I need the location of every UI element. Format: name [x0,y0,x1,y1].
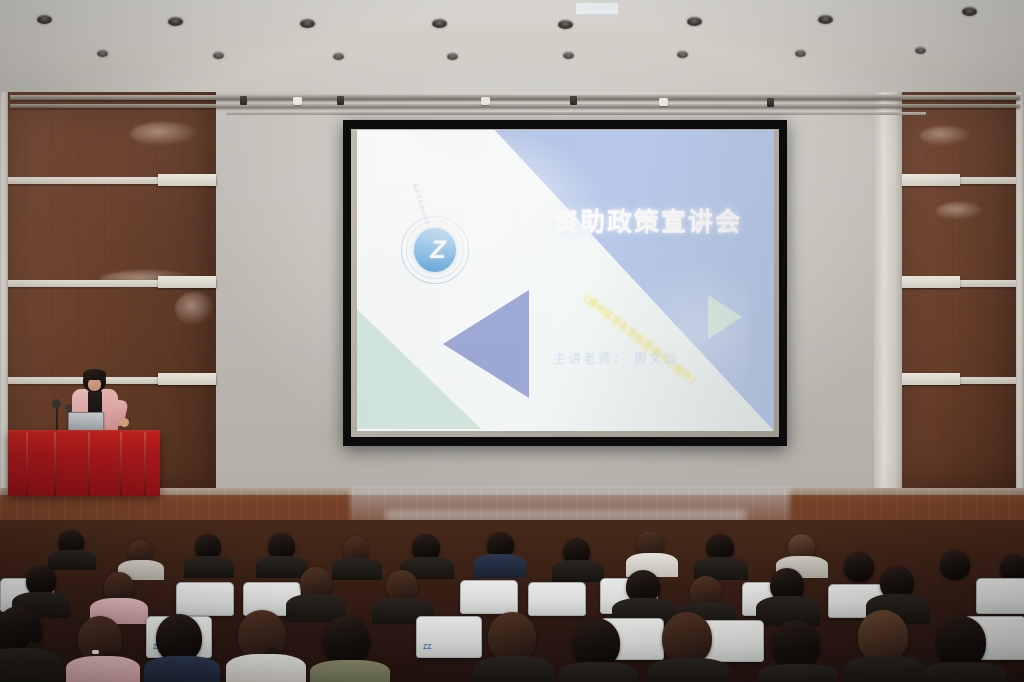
audience-head [844,552,874,582]
projection-screen[interactable]: 通州中等专业学校 Z 资助政策宣讲会 （通州区学生资助管理中心制作） 主讲老师：… [343,120,787,446]
audience-head [772,620,820,670]
cloth-fold [144,432,146,496]
school-seal-logo: 通州中等专业学校 Z [401,216,469,284]
audience-head [322,616,370,666]
audience-head [940,550,970,580]
speaker-hair [83,369,106,380]
downlight-icon [300,19,315,28]
curtain-track-pipe-secondary [10,104,1020,108]
downlight-icon [333,53,344,60]
slide-presenter: 主讲老师： 周文灿 [553,348,679,367]
downlight-icon [97,50,108,57]
audience-shoulders [144,656,220,682]
wall-scuff [936,202,984,220]
microphone-icon [56,404,58,432]
track-clip [337,96,344,105]
audience-shoulders [66,656,140,682]
downlight-icon [447,53,458,60]
seal-monogram: Z [414,228,456,272]
ceiling-sheen [0,0,1024,92]
audience-shoulders [0,648,62,682]
audience-chair[interactable] [176,582,234,616]
audience-shoulders [558,662,638,682]
slide-canvas: 通州中等专业学校 Z 资助政策宣讲会 （通州区学生资助管理中心制作） 主讲老师：… [357,130,774,431]
slide-title: 资助政策宣讲会 [553,202,742,238]
microphone-icon [65,404,72,411]
audience-shoulders [48,550,96,570]
cloth-fold [120,432,122,496]
ceiling-panel-marker [575,2,619,15]
cloth-fold [26,432,28,496]
wall-pilaster [0,92,8,490]
wall-trim-block [158,276,216,288]
audience-shoulders [474,554,526,578]
downlight-icon [687,17,702,26]
track-bead [481,97,490,105]
wood-grain-texture [900,92,1024,490]
cloth-fold [88,432,90,496]
audience-chair[interactable] [528,582,586,616]
audience-shoulders [922,662,1006,682]
audience-head [156,614,202,662]
audience-head [858,610,908,662]
audience-head [936,616,986,668]
wall-wood-panel-right [900,92,1024,490]
audience-chair[interactable] [460,580,518,614]
wall-trim-block [158,174,216,186]
downlight-icon [818,15,833,24]
ceiling [0,0,1024,92]
audience-shoulders [552,560,604,582]
track-bead [659,98,668,106]
downlight-icon [432,19,447,28]
wall-trim-block [900,174,960,186]
downlight-icon [558,20,573,29]
audience-shoulders [474,656,554,682]
downlight-icon [795,50,806,57]
downlight-icon [213,52,224,59]
podium-table [8,432,160,496]
audience-shoulders [226,654,306,682]
downlight-icon [915,47,926,54]
wall-pilaster [1016,92,1024,490]
wall-trim-block [158,373,216,385]
downlight-icon [962,7,977,16]
track-bead [293,97,302,105]
audience-shoulders [256,556,308,578]
audience-chair[interactable] [976,578,1024,614]
audience-shoulders [184,556,234,578]
chair-logo: ZZ [423,644,432,651]
curtain-track-pipe [10,95,1020,100]
speaker-hand [120,418,129,427]
audience-shoulders [844,656,926,682]
audience-shoulders [648,658,730,682]
track-clip [240,96,247,105]
hair-clip [92,650,99,654]
audience-area: ZZ ZZ ZZ [0,520,1024,682]
audience-shoulders [758,664,838,682]
audience-head [662,612,712,664]
projected-slide: 通州中等专业学校 Z 资助政策宣讲会 （通州区学生资助管理中心制作） 主讲老师：… [357,130,774,431]
curtain-track-rail [226,112,926,115]
downlight-icon [563,52,574,59]
audience-head [572,618,620,668]
downlight-icon [168,17,183,26]
cloth-fold [54,432,56,496]
downlight-icon [677,51,688,58]
microphone-icon [52,399,61,408]
track-clip [767,98,774,107]
audience-shoulders [310,660,390,682]
wall-trim-block [900,276,960,288]
wall-scuff [175,292,215,326]
audience-shoulders [332,558,382,580]
auditorium-photo-scene: 通州中等专业学校 Z 资助政策宣讲会 （通州区学生资助管理中心制作） 主讲老师：… [0,0,1024,682]
wall-trim-block [900,373,960,385]
wall-scuff [130,122,200,146]
track-clip [570,96,577,105]
wall-pilaster [874,92,902,490]
audience-chair[interactable]: ZZ [416,616,482,658]
audience-head [488,612,536,662]
downlight-icon [37,15,52,24]
wall-scuff [920,126,972,146]
